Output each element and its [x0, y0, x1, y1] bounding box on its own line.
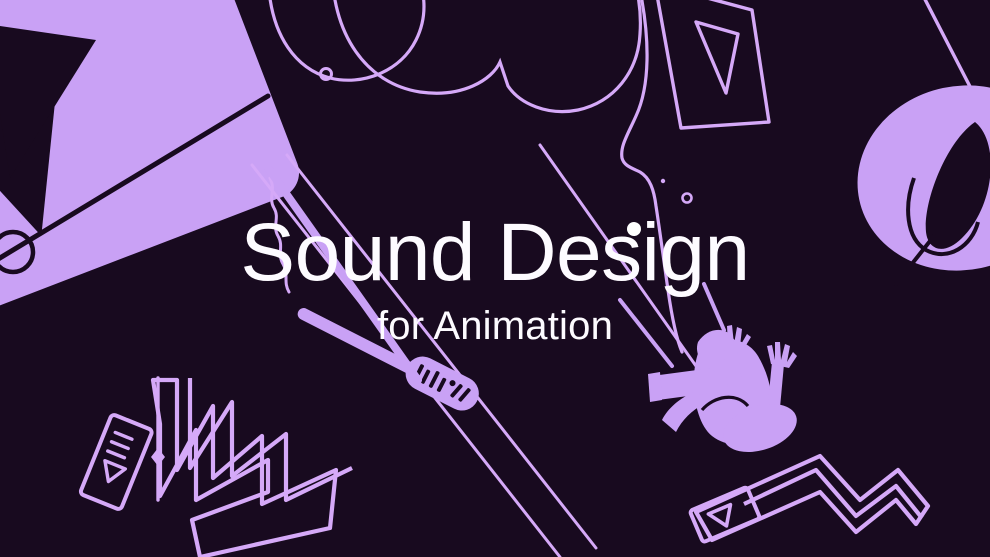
dot-white [627, 222, 641, 236]
poster-canvas: Sound Design for Animation [0, 0, 990, 557]
decorative-artwork [0, 0, 990, 557]
dot-tiny [661, 179, 665, 183]
